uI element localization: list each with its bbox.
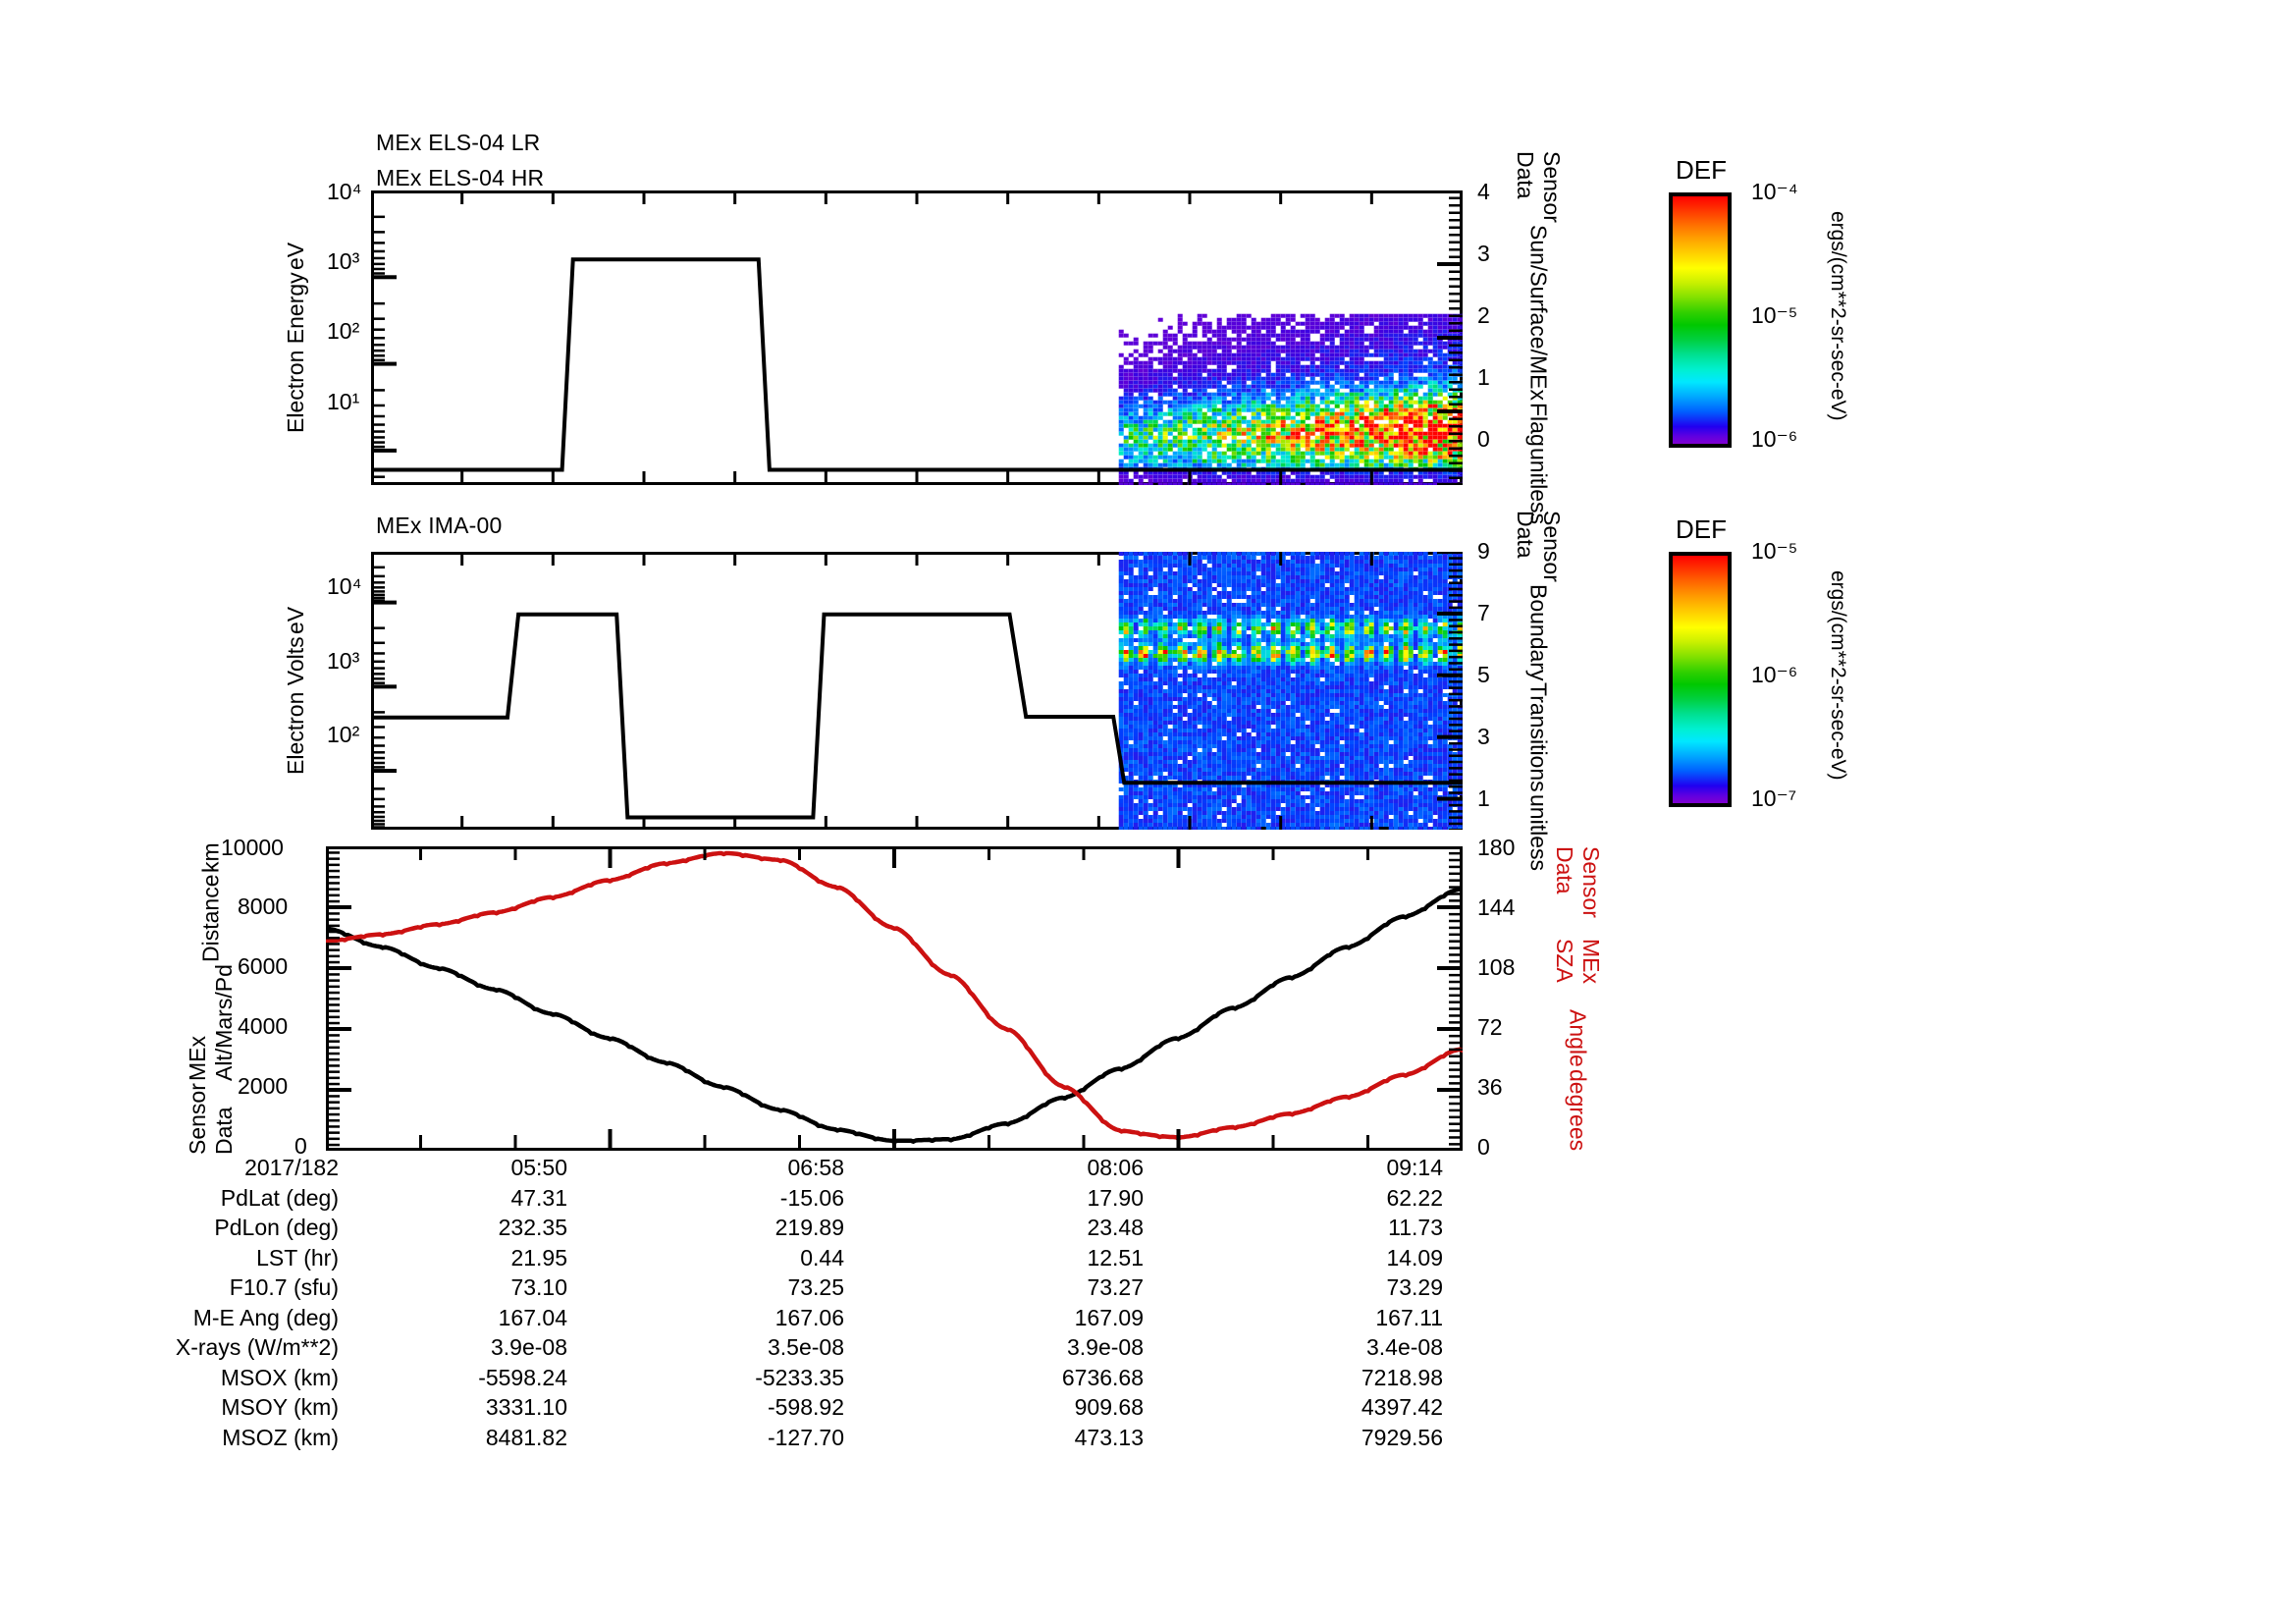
panel-1-left-tick-3: 10¹ bbox=[327, 389, 359, 415]
table-cell: -5598.24 bbox=[371, 1365, 567, 1391]
table-cell: 08:06 bbox=[947, 1155, 1144, 1181]
panel-3-right-tick-2: 108 bbox=[1477, 954, 1515, 981]
panel-1-trace-label-0: MEx ELS-04 LR bbox=[376, 130, 541, 156]
panel-1-trace-label-1: MEx ELS-04 HR bbox=[376, 165, 544, 191]
panel-3-left-tick-4: 2000 bbox=[238, 1073, 288, 1100]
panel-3-left-tick-0: 10000 bbox=[221, 835, 284, 861]
table-cell: 62.22 bbox=[1247, 1185, 1443, 1212]
panel-2-right-tick-0: 9 bbox=[1477, 538, 1490, 565]
panel-1-left-axis-title-line-1: eV bbox=[283, 243, 309, 270]
panel-3-left-tick-3: 4000 bbox=[238, 1013, 288, 1040]
table-cell: 73.25 bbox=[648, 1274, 844, 1301]
panel-3-right-axis-title: Sensor Data MEx SZA Angle degrees bbox=[1551, 846, 1659, 1151]
table-row-label: M-E Ang (deg) bbox=[0, 1305, 339, 1331]
panel-3-right-axis-title-line-0: Sensor Data bbox=[1551, 846, 1604, 937]
table-cell: 3.9e-08 bbox=[947, 1334, 1144, 1361]
panel-1-canvas bbox=[371, 190, 1463, 485]
table-cell: 219.89 bbox=[648, 1215, 844, 1241]
panel-2-right-axis-title-line-2: Transitions bbox=[1525, 682, 1552, 792]
table-cell: -598.92 bbox=[648, 1394, 844, 1421]
colorbar-1-bottom-label: 10⁻⁶ bbox=[1751, 426, 1797, 453]
table-row-label: MSOZ (km) bbox=[0, 1425, 339, 1451]
panel-2-right-axis-title: Sensor Data Boundary Transitions unitles… bbox=[1512, 552, 1620, 830]
table-cell: 09:14 bbox=[1247, 1155, 1443, 1181]
panel-3-left-tick-2: 6000 bbox=[238, 953, 288, 980]
panel-1-right-axis-title-line-1: Sun/Surface/MEx bbox=[1525, 225, 1552, 401]
colorbar-1-caption: DEF bbox=[1676, 155, 1727, 186]
table-cell: 167.04 bbox=[371, 1305, 567, 1331]
table-cell: 8481.82 bbox=[371, 1425, 567, 1451]
panel-1-right-tick-4: 0 bbox=[1477, 426, 1490, 453]
colorbar-1-gradient bbox=[1673, 196, 1728, 444]
panel-3-right-tick-4: 36 bbox=[1477, 1074, 1503, 1101]
table-row-label: X-rays (W/m**2) bbox=[0, 1334, 339, 1361]
colorbar-2-gradient bbox=[1673, 556, 1728, 803]
table-cell: 4397.42 bbox=[1247, 1394, 1443, 1421]
panel-3-left-axis-title-line-1: MEx Alt/Mars/Pd bbox=[185, 964, 238, 1081]
table-cell: 7218.98 bbox=[1247, 1365, 1443, 1391]
table-cell: 232.35 bbox=[371, 1215, 567, 1241]
table-cell: 73.27 bbox=[947, 1274, 1144, 1301]
table-cell: 12.51 bbox=[947, 1245, 1144, 1271]
panel-3-left-axis-title-line-0: Sensor Data bbox=[185, 1083, 238, 1155]
table-cell: 6736.68 bbox=[947, 1365, 1144, 1391]
table-cell: 06:58 bbox=[648, 1155, 844, 1181]
panel-2-left-tick-1: 10³ bbox=[327, 648, 359, 675]
panel-1-left-tick-2: 10² bbox=[327, 318, 359, 345]
table-cell: 3331.10 bbox=[371, 1394, 567, 1421]
panel-2-right-axis-title-line-3: unitless bbox=[1525, 794, 1552, 871]
colorbar-1 bbox=[1669, 192, 1732, 448]
panel-2-right-tick-1: 7 bbox=[1477, 600, 1490, 626]
panel-1-right-tick-1: 3 bbox=[1477, 241, 1490, 267]
table-cell: 11.73 bbox=[1247, 1215, 1443, 1241]
panel-1-left-tick-1: 10³ bbox=[327, 248, 359, 275]
colorbar-2-unit: ergs/(cm**2-sr-sec-eV) bbox=[1826, 552, 1865, 799]
table-row-label: PdLat (deg) bbox=[0, 1185, 339, 1212]
table-cell: 73.10 bbox=[371, 1274, 567, 1301]
panel-3-left-tick-1: 8000 bbox=[238, 893, 288, 920]
panel-1-left-axis-title-line-0: Electron Energy bbox=[283, 272, 309, 433]
panel-1-right-tick-0: 4 bbox=[1477, 179, 1490, 205]
table-cell: 17.90 bbox=[947, 1185, 1144, 1212]
panel-3-right-axis-title-line-1: MEx SZA bbox=[1551, 939, 1604, 1007]
table-row-label: LST (hr) bbox=[0, 1245, 339, 1271]
panel-3-right-tick-0: 180 bbox=[1477, 835, 1515, 861]
panel-2-right-tick-4: 1 bbox=[1477, 785, 1490, 812]
table-cell: 7929.56 bbox=[1247, 1425, 1443, 1451]
panel-2-canvas bbox=[371, 552, 1463, 830]
colorbar-1-unit-text: ergs/(cm**2-sr-sec-eV) bbox=[1826, 211, 1849, 421]
panel-2-left-tick-0: 10⁴ bbox=[327, 573, 361, 600]
panel-3-left-axis-title: Sensor Data MEx Alt/Mars/Pd Distance km bbox=[185, 846, 293, 1151]
panel-2-left-axis-title-line-1: eV bbox=[283, 607, 309, 634]
colorbar-2-unit-text: ergs/(cm**2-sr-sec-eV) bbox=[1826, 570, 1849, 781]
panel-2-right-axis-title-line-1: Boundary bbox=[1525, 584, 1552, 680]
table-row-label: MSOX (km) bbox=[0, 1365, 339, 1391]
table-cell: 14.09 bbox=[1247, 1245, 1443, 1271]
table-cell: -5233.35 bbox=[648, 1365, 844, 1391]
table-cell: 73.29 bbox=[1247, 1274, 1443, 1301]
panel-3-right-tick-1: 144 bbox=[1477, 894, 1515, 921]
colorbar-1-mid-label: 10⁻⁵ bbox=[1751, 302, 1797, 329]
table-cell: 23.48 bbox=[947, 1215, 1144, 1241]
table-cell: 167.11 bbox=[1247, 1305, 1443, 1331]
table-cell: 473.13 bbox=[947, 1425, 1144, 1451]
table-cell: 909.68 bbox=[947, 1394, 1144, 1421]
table-cell: 47.31 bbox=[371, 1185, 567, 1212]
panel-1-right-tick-2: 2 bbox=[1477, 302, 1490, 329]
panel-1-right-axis-title: Sensor Data Sun/Surface/MEx Flag unitles… bbox=[1512, 190, 1620, 485]
panel-3-canvas bbox=[326, 846, 1463, 1151]
panel-2-left-tick-2: 10² bbox=[327, 722, 359, 748]
panel-2-right-tick-2: 5 bbox=[1477, 662, 1490, 688]
table-cell: 3.9e-08 bbox=[371, 1334, 567, 1361]
table-cell: 167.06 bbox=[648, 1305, 844, 1331]
panel-2-left-axis-title-line-0: Electron Volts bbox=[283, 636, 309, 775]
panel-3-right-axis-title-line-3: degrees bbox=[1565, 1069, 1591, 1151]
colorbar-2-mid-label: 10⁻⁶ bbox=[1751, 662, 1797, 688]
table-cell: 0.44 bbox=[648, 1245, 844, 1271]
panel-3-right-axis-title-line-2: Angle bbox=[1565, 1009, 1591, 1067]
table-cell: -127.70 bbox=[648, 1425, 844, 1451]
table-cell: 3.4e-08 bbox=[1247, 1334, 1443, 1361]
colorbar-2-caption: DEF bbox=[1676, 514, 1727, 545]
colorbar-2-top-label: 10⁻⁵ bbox=[1751, 538, 1797, 565]
table-cell: 21.95 bbox=[371, 1245, 567, 1271]
panel-1-right-axis-title-line-0: Sensor Data bbox=[1512, 151, 1565, 223]
panel-2-right-tick-3: 3 bbox=[1477, 724, 1490, 750]
table-cell: 167.09 bbox=[947, 1305, 1144, 1331]
table-cell: 05:50 bbox=[371, 1155, 567, 1181]
panel-1-right-axis-title-line-2: Flag bbox=[1525, 403, 1552, 447]
table-cell: -15.06 bbox=[648, 1185, 844, 1212]
table-row-label: MSOY (km) bbox=[0, 1394, 339, 1421]
colorbar-2-bottom-label: 10⁻⁷ bbox=[1751, 785, 1796, 812]
table-row-label: F10.7 (sfu) bbox=[0, 1274, 339, 1301]
panel-2-trace-label-0: MEx IMA-00 bbox=[376, 513, 503, 539]
table-row-label: PdLon (deg) bbox=[0, 1215, 339, 1241]
panel-1-right-tick-3: 1 bbox=[1477, 364, 1490, 391]
ephemeris-table: 2017/18205:5006:5808:0609:14PdLat (deg)4… bbox=[0, 1155, 2296, 1449]
colorbar-2 bbox=[1669, 552, 1732, 807]
panel-3-left-axis-title-line-2: Distance bbox=[198, 875, 225, 962]
panel-3-right-tick-3: 72 bbox=[1477, 1014, 1503, 1041]
table-row-label: 2017/182 bbox=[0, 1155, 339, 1181]
colorbar-1-unit: ergs/(cm**2-sr-sec-eV) bbox=[1826, 192, 1865, 440]
panel-1-left-tick-0: 10⁴ bbox=[327, 179, 361, 205]
table-cell: 3.5e-08 bbox=[648, 1334, 844, 1361]
panel-2-right-axis-title-line-0: Sensor Data bbox=[1512, 511, 1565, 582]
colorbar-1-top-label: 10⁻⁴ bbox=[1751, 179, 1798, 205]
